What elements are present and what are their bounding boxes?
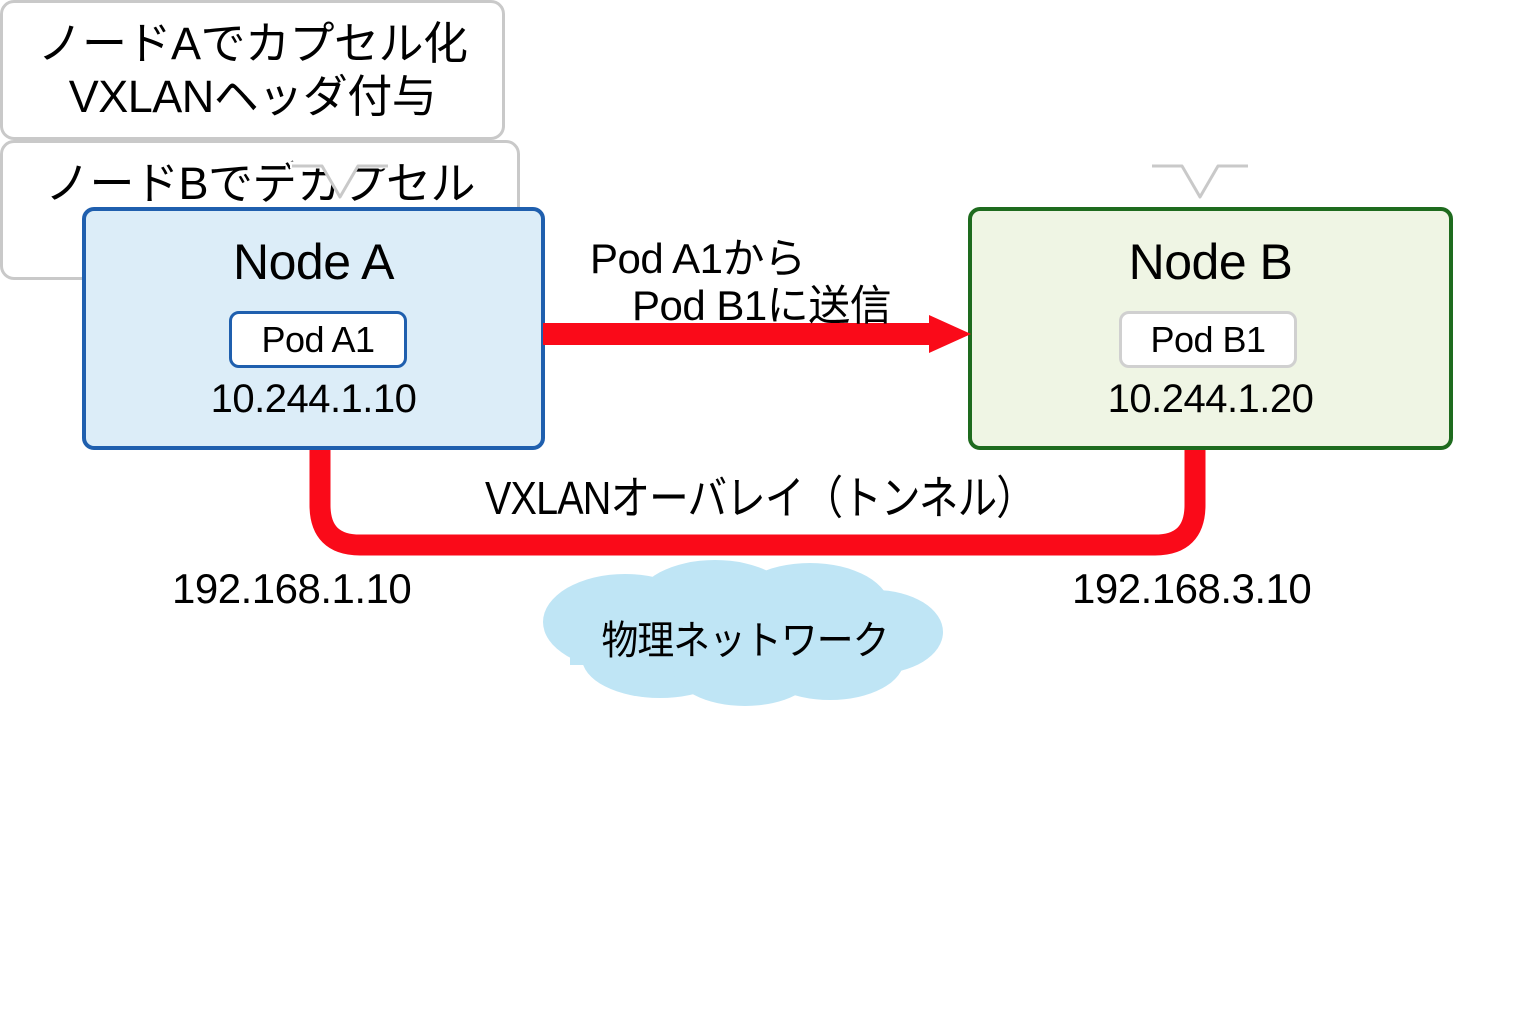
callout-encapsulation-tail [290, 162, 390, 208]
node-b-underlay-ip: 192.168.3.10 [1072, 565, 1311, 613]
node-a-underlay-ip: 192.168.1.10 [172, 565, 411, 613]
node-a-box[interactable]: Node A Pod A1 10.244.1.10 [82, 207, 545, 450]
node-a-title: Node A [86, 233, 541, 291]
node-a-pod-ip: 10.244.1.10 [86, 377, 541, 422]
flow-label-line2: Pod B1に送信 [590, 282, 891, 329]
flow-label-line1: Pod A1から [590, 235, 891, 282]
node-b-title: Node B [972, 233, 1449, 291]
cloud-label: 物理ネットワーク [547, 608, 943, 666]
node-b-pod-label: Pod B1 [1150, 319, 1265, 361]
node-b-pod-ip: 10.244.1.20 [972, 377, 1449, 422]
node-b-box[interactable]: Node B Pod B1 10.244.1.20 [968, 207, 1453, 450]
node-b-pod-box[interactable]: Pod B1 [1119, 311, 1297, 368]
node-a-pod-box[interactable]: Pod A1 [229, 311, 407, 368]
callout-decapsulation-tail [1150, 162, 1250, 208]
flow-label: Pod A1から Pod B1に送信 [590, 235, 891, 329]
node-a-pod-label: Pod A1 [261, 319, 374, 361]
diagram-canvas: 物理ネットワーク ノードAでカプセル化 VXLANヘッダ付与 ノードBでデカプセ… [0, 0, 1536, 1024]
tunnel-label: VXLANオーバレイ（トンネル） [399, 462, 1121, 528]
